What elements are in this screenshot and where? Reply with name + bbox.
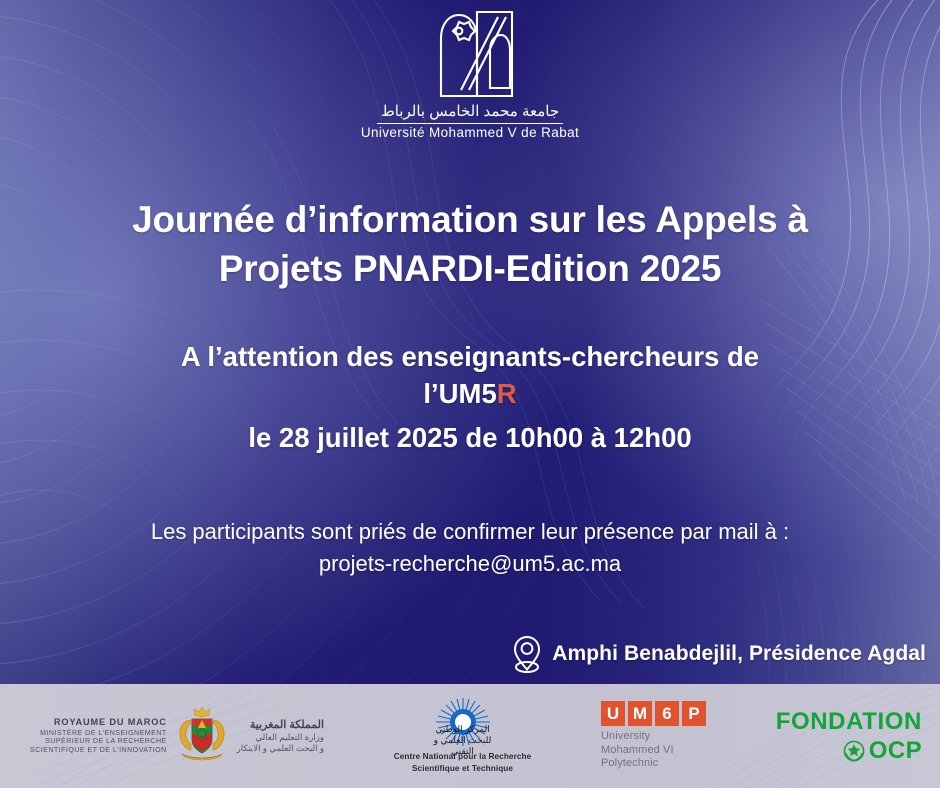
rsvp-email[interactable]: projets-recherche@um5.ac.ma — [319, 551, 621, 576]
um6p-tile-p: P — [682, 701, 706, 726]
rsvp-note-text: Les participants sont priés de confirmer… — [151, 519, 789, 544]
ocp-text: OCP — [869, 739, 922, 763]
ministry-fr-line-3: SUPÉRIEUR DE LA RECHERCHE — [30, 737, 167, 746]
ministry-french-text: ROYAUME DU MAROC MINISTÈRE DE L'ENSEIGNE… — [30, 717, 167, 754]
logo-arabic-name: جامعة محمد الخامس بالرباط — [381, 104, 559, 121]
title-line-2: Projets PNARDI-Edition 2025 — [219, 248, 721, 289]
ministry-ar-line-2: وزارة التعليم العالي — [237, 732, 324, 743]
subtitle-line-2: l’UM5R — [423, 378, 516, 409]
um6p-sub-line-3: Polytechnic — [601, 757, 674, 770]
subtitle-line-1: A l’attention des enseignants-chercheurs… — [181, 341, 759, 372]
cnrst-arabic-text: المركز الوطني للبحث العلمي و التقني — [426, 724, 500, 757]
logo-ministry: ROYAUME DU MAROC MINISTÈRE DE L'ENSEIGNE… — [30, 704, 324, 768]
cnrst-fr-line-2: Scientifique et Technique — [394, 763, 532, 775]
venue-text: Amphi Benabdejlil, Présidence Agdal — [552, 642, 926, 666]
um5-text: l’UM5 — [423, 378, 496, 409]
university-logo: جامعة محمد الخامس بالرباط Université Moh… — [0, 8, 940, 140]
ministry-ar-line-1: المملكة المغربية — [237, 718, 324, 732]
rsvp-note: Les participants sont priés de confirmer… — [38, 516, 902, 580]
map-pin-icon — [510, 632, 544, 676]
um6p-tile-m: M — [628, 701, 652, 726]
logo-fondation-ocp: FONDATION OCP — [776, 710, 922, 763]
ministry-fr-line-1: ROYAUME DU MAROC — [30, 717, 167, 728]
um6p-tile-6: 6 — [655, 701, 679, 726]
page-title: Journée d’information sur les Appels à P… — [38, 196, 902, 294]
logo-um6p: U M 6 P University Mohammed VI Polytechn… — [601, 701, 706, 770]
um6p-letter-tiles: U M 6 P — [601, 701, 706, 726]
morocco-coat-of-arms-icon — [174, 704, 230, 768]
um6p-subtitle: University Mohammed VI Polytechnic — [601, 730, 674, 770]
logo-cnrst: المركز الوطني للبحث العلمي و التقني Cent… — [394, 698, 532, 775]
audience-subtitle: A l’attention des enseignants-chercheurs… — [38, 338, 902, 413]
um6p-tile-u: U — [601, 701, 625, 726]
logo-divider — [377, 123, 563, 124]
um5-monogram-icon — [411, 8, 529, 100]
ministry-ar-line-3: و البحث العلمي و الابتكار — [237, 743, 324, 754]
title-line-1: Journée d’information sur les Appels à — [132, 199, 808, 240]
ministry-arabic-text: المملكة المغربية وزارة التعليم العالي و … — [237, 718, 324, 755]
poster-content: Journée d’information sur les Appels à P… — [0, 196, 940, 580]
ministry-fr-line-4: SCIENTIFIQUE ET DE L'INNOVATION — [30, 746, 167, 755]
um6p-sub-line-1: University — [601, 730, 674, 743]
logo-french-name: Université Mohammed V de Rabat — [361, 126, 579, 141]
event-datetime: le 28 juillet 2025 de 10h00 à 12h00 — [38, 420, 902, 456]
venue-line: Amphi Benabdejlil, Présidence Agdal — [510, 632, 926, 676]
um5-accent-letter: R — [497, 378, 517, 409]
ministry-fr-line-2: MINISTÈRE DE L'ENSEIGNEMENT — [30, 729, 167, 738]
ocp-fondation-text: FONDATION — [776, 710, 922, 734]
sponsor-footer: ROYAUME DU MAROC MINISTÈRE DE L'ENSEIGNE… — [0, 684, 940, 788]
poster-canvas: جامعة محمد الخامس بالرباط Université Moh… — [0, 0, 940, 788]
ocp-star-icon — [843, 740, 865, 762]
um6p-sub-line-2: Mohammed VI — [601, 744, 674, 757]
